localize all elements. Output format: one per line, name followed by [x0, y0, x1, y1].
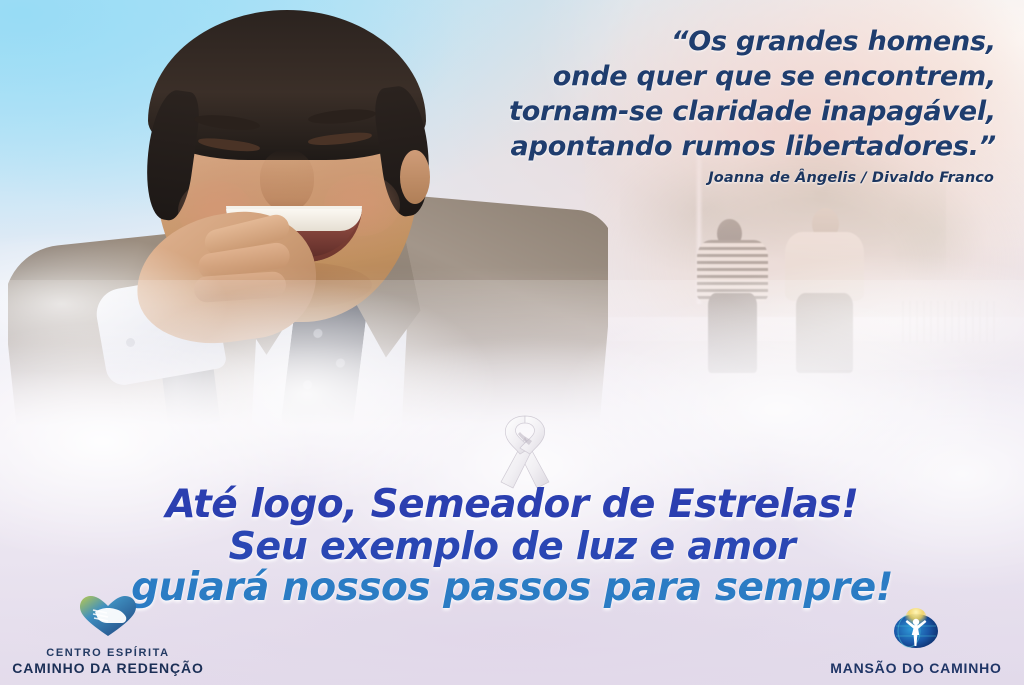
background-photo-two-people-walking [585, 150, 1024, 415]
logo-right-line-2: MANSÃO DO CAMINHO [816, 660, 1016, 677]
logo-centro-espirita-caminho-da-redencao: CENTRO ESPÍRITA CAMINHO DA REDENÇÃO [8, 594, 208, 677]
logo-left-line-2: CAMINHO DA REDENÇÃO [8, 660, 208, 677]
mourning-ribbon-icon [487, 408, 563, 492]
quote-line-2: onde quer que se encontrem, [436, 59, 996, 94]
quote-line-4: apontando rumos libertadores.” [436, 129, 996, 164]
quote-attribution: Joanna de Ângelis / Divaldo Franco [434, 170, 994, 186]
quote-line-3: tornam-se claridade inapagável, [436, 94, 996, 129]
quote-text: “Os grandes homens, onde quer que se enc… [436, 24, 996, 164]
headline-line-2: Seu exemplo de luz e amor [0, 526, 1024, 567]
heart-hand-icon [8, 594, 208, 643]
memorial-poster: “Os grandes homens, onde quer que se enc… [0, 0, 1024, 685]
globe-figure-icon [816, 607, 1016, 656]
logo-mansao-do-caminho: MANSÃO DO CAMINHO [816, 607, 1016, 677]
logo-left-line-1: CENTRO ESPÍRITA [8, 647, 208, 660]
headline-line-1: Até logo, Semeador de Estrelas! [0, 484, 1024, 526]
quote-line-1: “Os grandes homens, [436, 24, 996, 59]
headline-block: Até logo, Semeador de Estrelas! Seu exem… [0, 484, 1024, 609]
